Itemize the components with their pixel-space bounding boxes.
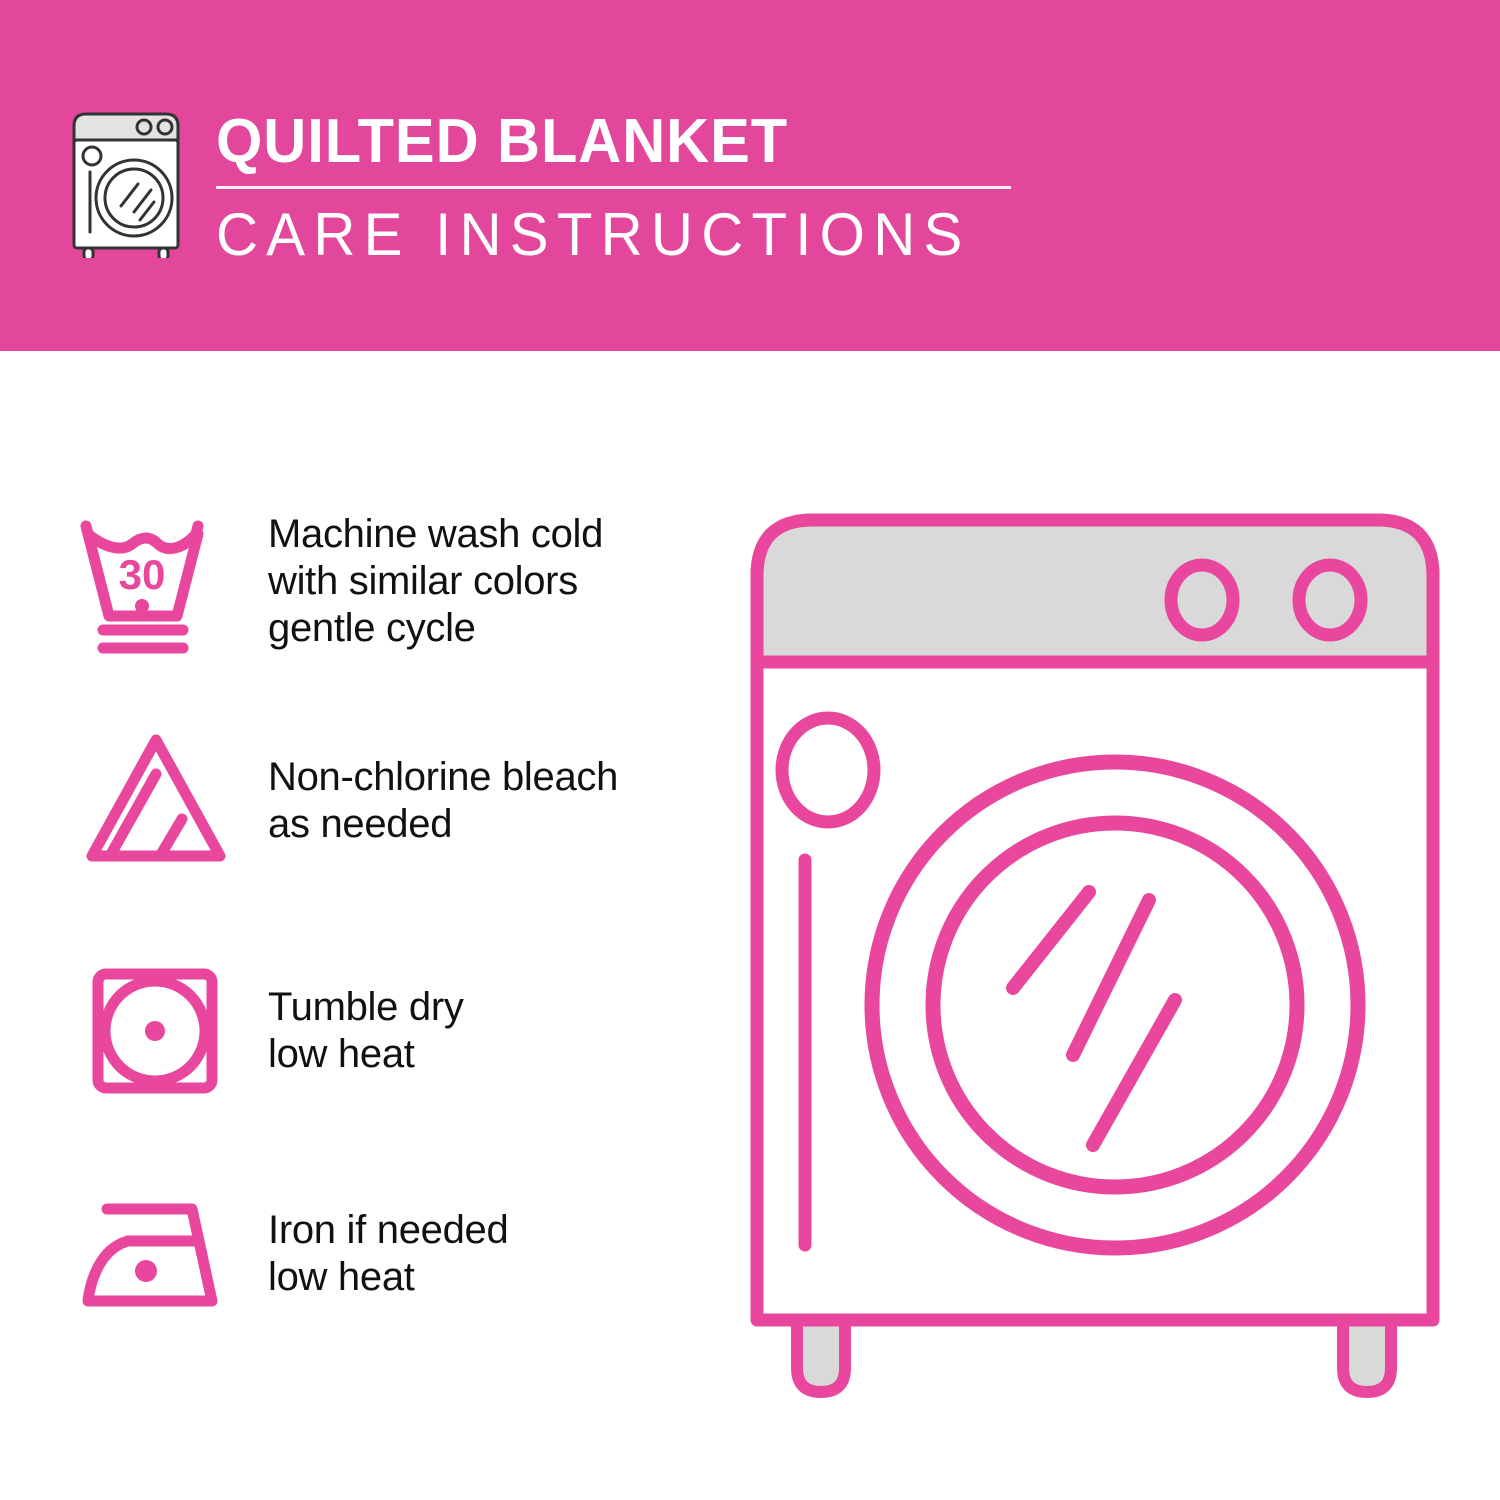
care-label-line: Non-chlorine bleach (268, 754, 618, 801)
page-title: QUILTED BLANKET (216, 108, 994, 176)
care-label-line: Iron if needed (268, 1207, 508, 1254)
washer-detergent-dial (782, 718, 874, 822)
care-row-tumble-dry: Tumble dry low heat (60, 956, 720, 1106)
machine-wash-30-gentle-icon: 30 (60, 506, 250, 656)
care-label-line: gentle cycle (268, 605, 603, 652)
care-instruction-list: 30 Machine wash cold with similar colors… (0, 351, 730, 1500)
care-label-line: low heat (268, 1254, 508, 1301)
care-label-line: as needed (268, 801, 618, 848)
care-label-line: with similar colors (268, 558, 603, 605)
care-row-iron: Iron if needed low heat (60, 1179, 720, 1329)
title-divider (216, 186, 1011, 189)
page-subtitle: CARE INSTRUCTIONS (216, 203, 1002, 267)
tumble-dry-low-icon (60, 956, 250, 1106)
header-banner: QUILTED BLANKET CARE INSTRUCTIONS (0, 0, 1500, 351)
wash-temperature-value: 30 (119, 551, 166, 598)
care-label-page: QUILTED BLANKET CARE INSTRUCTIONS (0, 0, 1500, 1500)
care-row-machine-wash: 30 Machine wash cold with similar colors… (60, 506, 720, 656)
care-label-line: Tumble dry (268, 984, 464, 1031)
front-load-washing-machine-illustration (735, 480, 1455, 1420)
washer-knob-left (1171, 565, 1233, 635)
care-label-bleach: Non-chlorine bleach as needed (250, 754, 618, 848)
care-label-iron: Iron if needed low heat (250, 1207, 508, 1301)
iron-low-heat-icon (60, 1179, 250, 1329)
non-chlorine-bleach-icon (60, 726, 250, 876)
header-text-block: QUILTED BLANKET CARE INSTRUCTIONS (216, 108, 1026, 267)
care-row-bleach: Non-chlorine bleach as needed (60, 726, 720, 876)
care-label-tumble-dry: Tumble dry low heat (250, 984, 464, 1078)
washing-machine-icon (66, 108, 186, 258)
care-label-line: low heat (268, 1031, 464, 1078)
washer-knob-right (1299, 565, 1361, 635)
washer-door-inner-ring (933, 823, 1297, 1187)
care-label-line: Machine wash cold (268, 511, 603, 558)
care-label-machine-wash: Machine wash cold with similar colors ge… (250, 511, 603, 652)
